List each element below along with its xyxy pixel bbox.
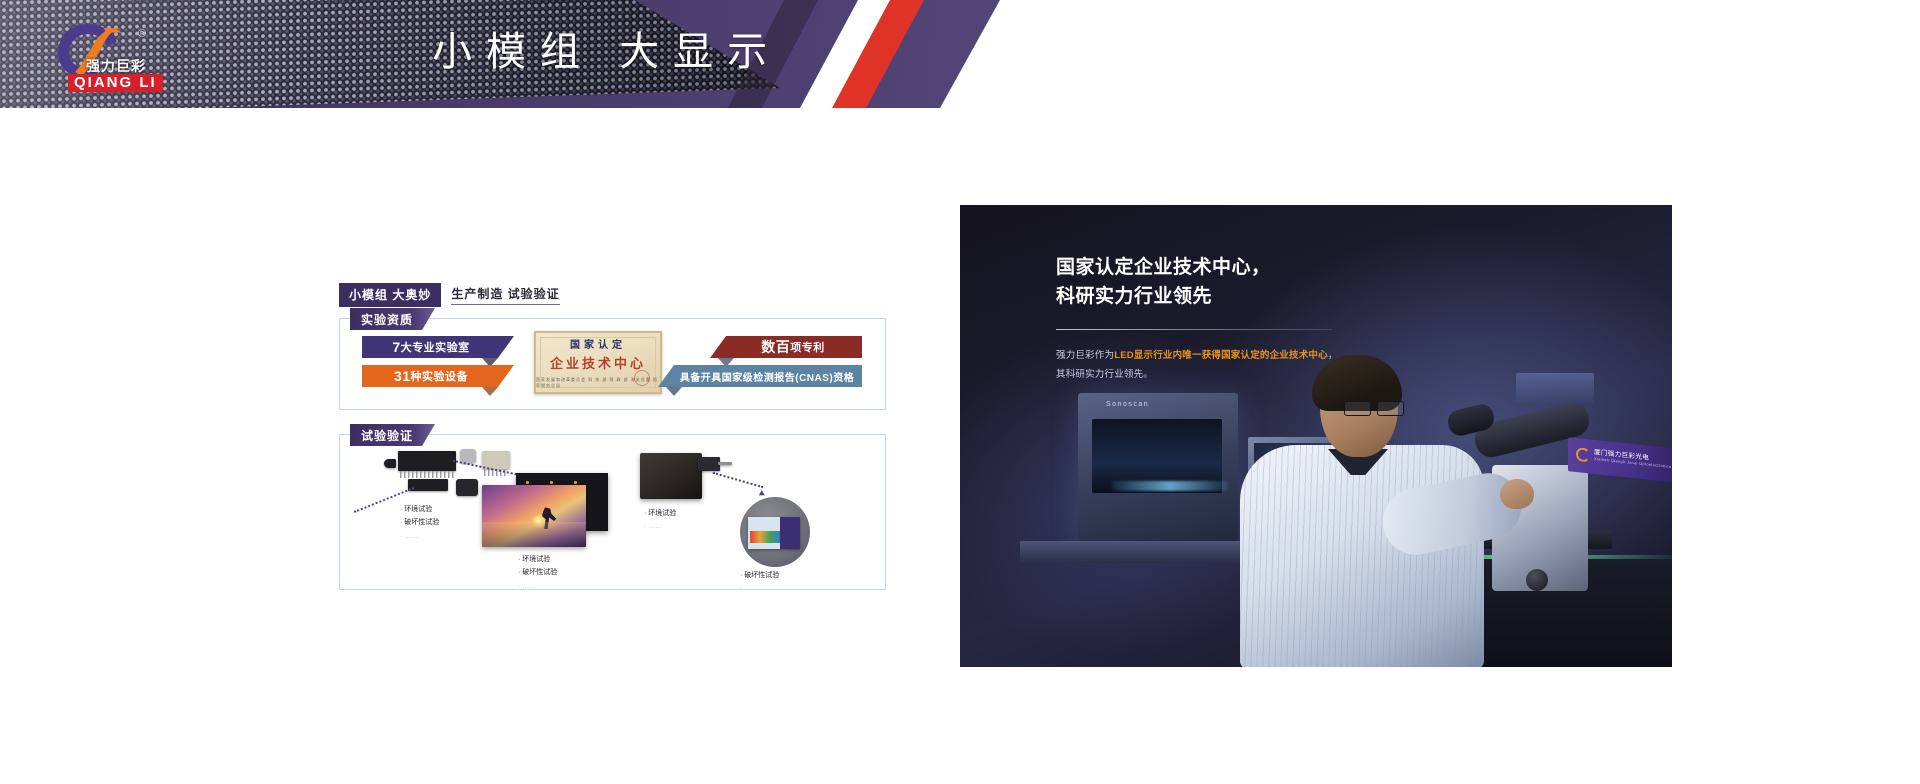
banner-title: 小模组 大显示 (432, 26, 781, 78)
arrow-equipment-tail (482, 387, 498, 396)
package-photo-circle (740, 497, 810, 567)
label-module-0: · 环境试验 (518, 553, 557, 566)
logo-english-name: QIANG LI (68, 74, 163, 92)
panel-qualification: 实验资质 7大专业实验室 31种实验设备 国家认定 企业技术中心 国家发展和改革… (339, 318, 886, 410)
labels-components: · 环境试验 · 破坏性试验 · …… (400, 503, 439, 543)
sonoscan-glow (1112, 481, 1228, 491)
sonoscan-machine: Sonoscan (1078, 393, 1238, 541)
photo-body-highlight: LED显示行业内唯一获得国家认定的企业技术中心 (1114, 350, 1328, 361)
certificate-plaque: 国家认定 企业技术中心 国家发展和改革委员会 科 技 部 财 政 部 海关总署 … (534, 331, 662, 394)
dip-ic (408, 479, 448, 491)
arrow-cnas-text: 具备开具国家级检测报告(CNAS)资格 (680, 369, 855, 384)
photo-body-prefix: 强力巨彩作为 (1056, 350, 1114, 361)
arrow-equipment-text: 种实验设备 (411, 368, 469, 384)
lab-technician (1232, 353, 1532, 667)
left-content-column: 小模组 大奥妙 生产制造 试验验证 实验资质 7大专业实验室 31种实验设备 国… (339, 283, 886, 590)
label-module-more: · …… (518, 580, 557, 589)
company-logo: ® 强力巨彩 QIANG LI (52, 20, 174, 92)
sonoscan-window (1092, 419, 1222, 493)
photo-body-text: 强力巨彩作为LED显示行业内唯一获得国家认定的企业技术中心，其科研实力行业领先。 (1056, 347, 1346, 384)
label-package-0: · 破坏性试验 (740, 569, 779, 582)
registered-mark: ® (138, 28, 146, 40)
section-subtitle: 生产制造 试验验证 (451, 285, 559, 305)
cabinet-cable (718, 462, 732, 465)
section-badge: 小模组 大奥妙 (339, 283, 441, 307)
arrow-labs: 7大专业实验室 (362, 336, 514, 358)
lab-photo: Sonoscan 厦门强力巨彩光电 Xiamen Qiangli Jucai O… (960, 205, 1672, 667)
technician-hand (1500, 479, 1534, 509)
arrow-cnas-tail (666, 387, 682, 396)
product-box (748, 517, 800, 549)
sonoscan-label: Sonoscan (1106, 401, 1149, 408)
label-cabinet-0: · 环境试验 (644, 507, 676, 520)
header-connector-large (398, 451, 456, 471)
box-color-strip (750, 531, 780, 543)
flow-line-4 (713, 472, 764, 488)
arrow-cnas: 具备开具国家级检测报告(CNAS)资格 (658, 365, 862, 387)
certificate-line2: 企业技术中心 (550, 353, 646, 372)
panel-tab-qualification: 实验资质 (350, 308, 435, 330)
flow-arrow-3 (759, 490, 766, 498)
technician-lab-coat (1240, 445, 1484, 667)
photo-heading: 国家认定企业技术中心， 科研实力行业领先 (1056, 253, 1271, 312)
labels-module: · 环境试验 · 破坏性试验 · …… (518, 553, 557, 589)
label-components-1: · 破坏性试验 (400, 516, 439, 529)
label-cabinet-more: · …… (644, 520, 676, 533)
section-heading: 小模组 大奥妙 生产制造 试验验证 (339, 283, 886, 307)
led-cabinet (640, 453, 702, 499)
arrow-labs-text: 大专业实验室 (401, 339, 470, 355)
certificate-line1: 国家认定 (570, 336, 626, 351)
poster-page: ® 强力巨彩 QIANG LI 小模组 大显示 小模组 大奥妙 生产制造 试验验… (0, 0, 1920, 784)
label-components-0: · 环境试验 (400, 503, 439, 516)
arrow-patents-text: 项专利 (790, 339, 825, 355)
logo-chinese-name: 强力巨彩 (86, 56, 146, 76)
testing-flow-graphic: · 环境试验 · 破坏性试验 · …… (340, 435, 885, 589)
arrow-labs-number: 7 (392, 339, 400, 355)
photo-divider (1056, 329, 1332, 330)
arrow-patents-number: 数百 (761, 337, 790, 357)
panel-testing: 试验验证 · 环境试验 · 破坏性试验 · …… (339, 434, 886, 590)
connector-part (384, 459, 396, 468)
technician-glasses-icon (1344, 401, 1406, 414)
label-package-more: · …… (740, 582, 779, 589)
labels-cabinet: · 环境试验 · …… (644, 507, 676, 534)
connector-pins (400, 471, 454, 478)
led-smd-part (456, 479, 478, 496)
cabinet-connector (698, 457, 720, 471)
arrow-equipment-number: 31 (394, 368, 411, 384)
arrow-patents: 数百项专利 (710, 336, 862, 358)
arrow-equipment: 31种实验设备 (362, 365, 514, 387)
certificate-seal-icon (634, 370, 650, 386)
label-module-1: · 破坏性试验 (518, 566, 557, 579)
led-display-panel (482, 485, 586, 547)
label-components-more: · …… (400, 530, 439, 543)
labels-package: · 破坏性试验 · …… (740, 569, 779, 589)
wall-banner-logo-icon (1576, 447, 1590, 462)
